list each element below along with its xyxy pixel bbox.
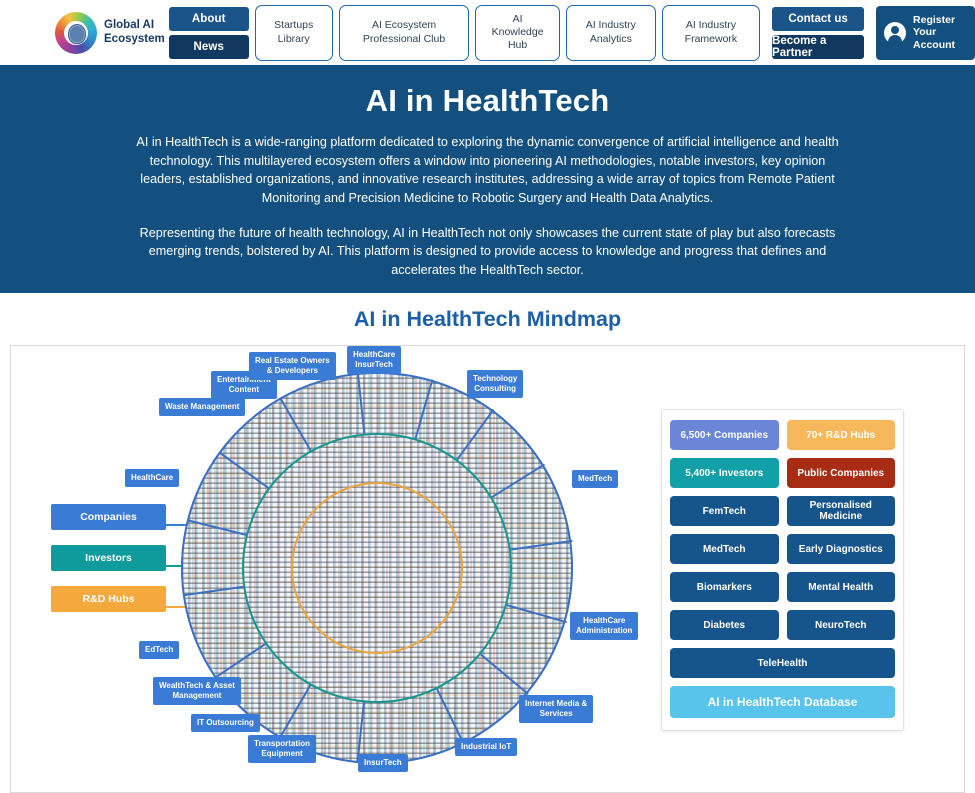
hero-paragraph-2: Representing the future of health techno… — [130, 224, 846, 280]
nav-button-news[interactable]: News — [169, 35, 249, 59]
key-label-companies[interactable]: Companies — [51, 504, 166, 530]
nav-button-ai-ecosystem-professional-club[interactable]: AI Ecosystem Professional Club — [339, 5, 470, 61]
key-label-rd-hubs[interactable]: R&D Hubs — [51, 586, 166, 612]
legend-button-personalised-medicine[interactable]: Personalised Medicine — [787, 496, 896, 526]
legend-button-medtech[interactable]: MedTech — [670, 534, 779, 564]
sector-label-transportation-equipment[interactable]: Transportation Equipment — [248, 735, 316, 763]
legend-row: MedTech Early Diagnostics — [670, 534, 895, 564]
legend-button-companies-count[interactable]: 6,500+ Companies — [670, 420, 779, 450]
nav-solid-stack: About News — [169, 7, 249, 59]
legend-button-public-companies[interactable]: Public Companies — [787, 458, 896, 488]
legend-button-ai-in-healthtech-database[interactable]: AI in HealthTech Database — [670, 686, 895, 718]
nav-button-ai-industry-analytics[interactable]: AI Industry Analytics — [566, 5, 656, 61]
sector-label-edtech[interactable]: EdTech — [139, 641, 179, 659]
brand-name-line1: Global AI — [104, 19, 165, 32]
key-label-investors[interactable]: Investors — [51, 545, 166, 571]
legend-row: FemTech Personalised Medicine — [670, 496, 895, 526]
site-header: Global AI Ecosystem About News Startups … — [0, 0, 975, 65]
page-title: AI in HealthTech — [0, 83, 975, 119]
sector-label-technology-consulting[interactable]: Technology Consulting — [467, 370, 523, 398]
legend-row: Biomarkers Mental Health — [670, 572, 895, 602]
legend-row: TeleHealth — [670, 648, 895, 678]
become-a-partner-button[interactable]: Become a Partner — [772, 35, 864, 59]
legend-button-neurotech[interactable]: NeuroTech — [787, 610, 896, 640]
wheel-ring-inner — [291, 482, 463, 654]
hero-section: AI in HealthTech AI in HealthTech is a w… — [0, 65, 975, 293]
legend-button-early-diagnostics[interactable]: Early Diagnostics — [787, 534, 896, 564]
sector-label-internet-media-services[interactable]: Internet Media & Services — [519, 695, 593, 723]
sector-label-industrial-iot[interactable]: Industrial IoT — [455, 738, 517, 756]
legend-row: AI in HealthTech Database — [670, 686, 895, 718]
main-navigation: About News Startups Library AI Ecosystem… — [169, 5, 975, 61]
nav-button-ai-industry-framework[interactable]: AI Industry Framework — [662, 5, 760, 61]
sector-label-healthcare-insurtech[interactable]: HealthCare InsurTech — [347, 346, 401, 374]
mindmap-canvas[interactable]: Waste Management Entertainment Content R… — [10, 345, 965, 793]
legend-button-mental-health[interactable]: Mental Health — [787, 572, 896, 602]
legend-button-rd-hubs-count[interactable]: 70+ R&D Hubs — [787, 420, 896, 450]
sector-label-waste-management[interactable]: Waste Management — [159, 398, 245, 416]
legend-row: 5,400+ Investors Public Companies — [670, 458, 895, 488]
cta-stack: Contact us Become a Partner — [772, 7, 864, 59]
legend-button-investors-count[interactable]: 5,400+ Investors — [670, 458, 779, 488]
legend-row: 6,500+ Companies 70+ R&D Hubs — [670, 420, 895, 450]
mindmap-title: AI in HealthTech Mindmap — [0, 307, 975, 332]
account-avatar-icon — [884, 22, 906, 44]
sector-label-wealthtech-asset-management[interactable]: WealthTech & Asset Management — [153, 677, 241, 705]
register-button-label: Register Your Account — [913, 14, 967, 52]
brand-logo-block[interactable]: Global AI Ecosystem — [55, 12, 165, 54]
legend-button-telehealth[interactable]: TeleHealth — [670, 648, 895, 678]
nav-button-about[interactable]: About — [169, 7, 249, 31]
register-your-account-button[interactable]: Register Your Account — [876, 6, 975, 60]
nav-button-ai-knowledge-hub[interactable]: AI Knowledge Hub — [475, 5, 559, 61]
mindmap-wheel[interactable] — [181, 372, 573, 764]
legend-button-femtech[interactable]: FemTech — [670, 496, 779, 526]
sector-label-it-outsourcing[interactable]: IT Outsourcing — [191, 714, 260, 732]
hero-paragraph-1: AI in HealthTech is a wide-ranging platf… — [130, 133, 846, 208]
brand-name-line2: Ecosystem — [104, 33, 165, 46]
nav-button-startups-library[interactable]: Startups Library — [255, 5, 333, 61]
sector-label-insurtech[interactable]: InsurTech — [358, 754, 408, 772]
sector-label-healthcare[interactable]: HealthCare — [125, 469, 179, 487]
global-ai-ecosystem-logo-icon — [55, 12, 97, 54]
legend-row: Diabetes NeuroTech — [670, 610, 895, 640]
sector-label-real-estate-owners-developers[interactable]: Real Estate Owners & Developers — [249, 352, 336, 380]
legend-button-diabetes[interactable]: Diabetes — [670, 610, 779, 640]
mindmap-legend-panel: 6,500+ Companies 70+ R&D Hubs 5,400+ Inv… — [661, 409, 904, 731]
brand-name: Global AI Ecosystem — [104, 19, 165, 45]
sector-label-healthcare-administration[interactable]: HealthCare Administration — [570, 612, 638, 640]
legend-button-biomarkers[interactable]: Biomarkers — [670, 572, 779, 602]
mindmap-section: AI in HealthTech Mindmap — [0, 293, 975, 793]
contact-us-button[interactable]: Contact us — [772, 7, 864, 31]
sector-label-medtech[interactable]: MedTech — [572, 470, 618, 488]
